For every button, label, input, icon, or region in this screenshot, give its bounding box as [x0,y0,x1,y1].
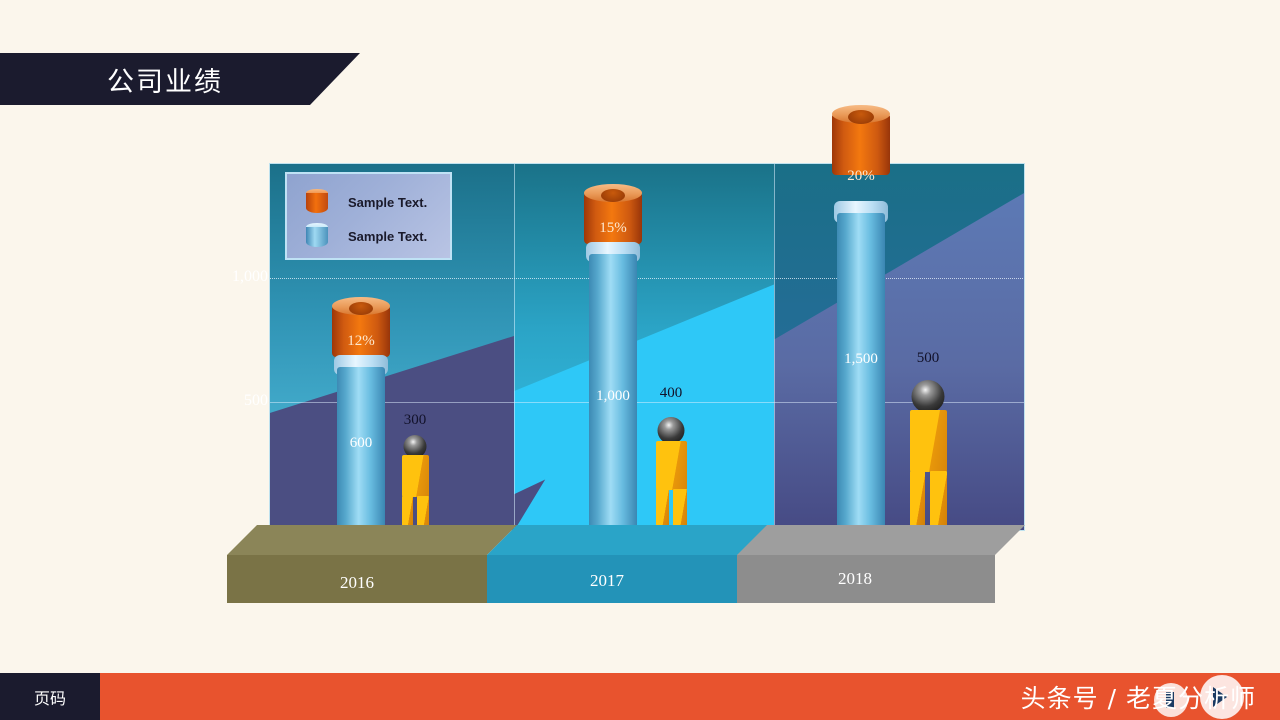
blue-cylinder-icon [303,222,331,250]
figure-value-2017: 400 [648,385,694,402]
column-percent-2018: 20% [837,168,885,185]
figure-body [910,410,947,472]
base-year-2018: 2018 [775,569,935,589]
base-year-2016: 2016 [287,573,427,593]
base-top-2017 [487,525,777,555]
column-percent-2016: 12% [337,333,385,350]
figure-2017[interactable]: 400 [648,415,694,543]
donut-hole [601,189,625,202]
legend-item-1[interactable]: Sample Text. [303,219,450,253]
column-2017[interactable]: 15% 1,000 [589,192,637,537]
column-value-2018: 1,500 [837,351,885,368]
figure-head [658,417,685,444]
column-shaft-2018 [837,213,885,537]
footer-page-box[interactable]: 页码 [0,673,100,720]
column-value-2017: 1,000 [589,388,637,405]
legend-label-1: Sample Text. [348,229,427,244]
orange-cylinder-icon [303,188,331,216]
chart-base-platform: 2016 2017 2018 [227,525,1025,605]
figure-value-2016: 300 [395,412,435,429]
column-cap-2018 [832,113,890,175]
figure-2018[interactable]: 500 [901,378,955,544]
chart-panel-2017 [514,163,774,531]
page-title: 公司业绩 [107,60,223,99]
figure-head [912,380,945,413]
column-2018[interactable]: 20% 1,500 [837,113,885,537]
legend-item-0[interactable]: Sample Text. [303,185,450,219]
figure-body [402,455,429,497]
column-shaft-2016 [337,367,385,537]
donut-hole [848,110,874,124]
chart-panel-2018 [774,163,1025,531]
chart-legend[interactable]: Sample Text. Sample Text. [285,172,452,260]
title-banner: 公司业绩 [0,53,360,105]
panel-divider-2 [774,163,775,531]
footer-page-label: 页码 [34,685,66,709]
legend-label-0: Sample Text. [348,195,427,210]
base-year-2017: 2017 [527,571,687,591]
y-axis-label-500: 500 [208,392,268,410]
gridline-1000 [269,278,1025,279]
column-percent-2017: 15% [589,220,637,237]
donut-hole [349,302,373,315]
figure-value-2018: 500 [901,350,955,367]
column-value-2016: 600 [337,435,385,452]
figure-body [656,441,687,490]
panel-divider-1 [514,163,515,531]
column-2016[interactable]: 12% 600 [337,305,385,537]
base-top-2016 [227,525,517,555]
y-axis-label-1000: 1,000 [208,268,268,286]
footer-credit: 头条号 / 老夏分析师 [1021,673,1256,720]
base-top-2018 [737,525,1025,555]
